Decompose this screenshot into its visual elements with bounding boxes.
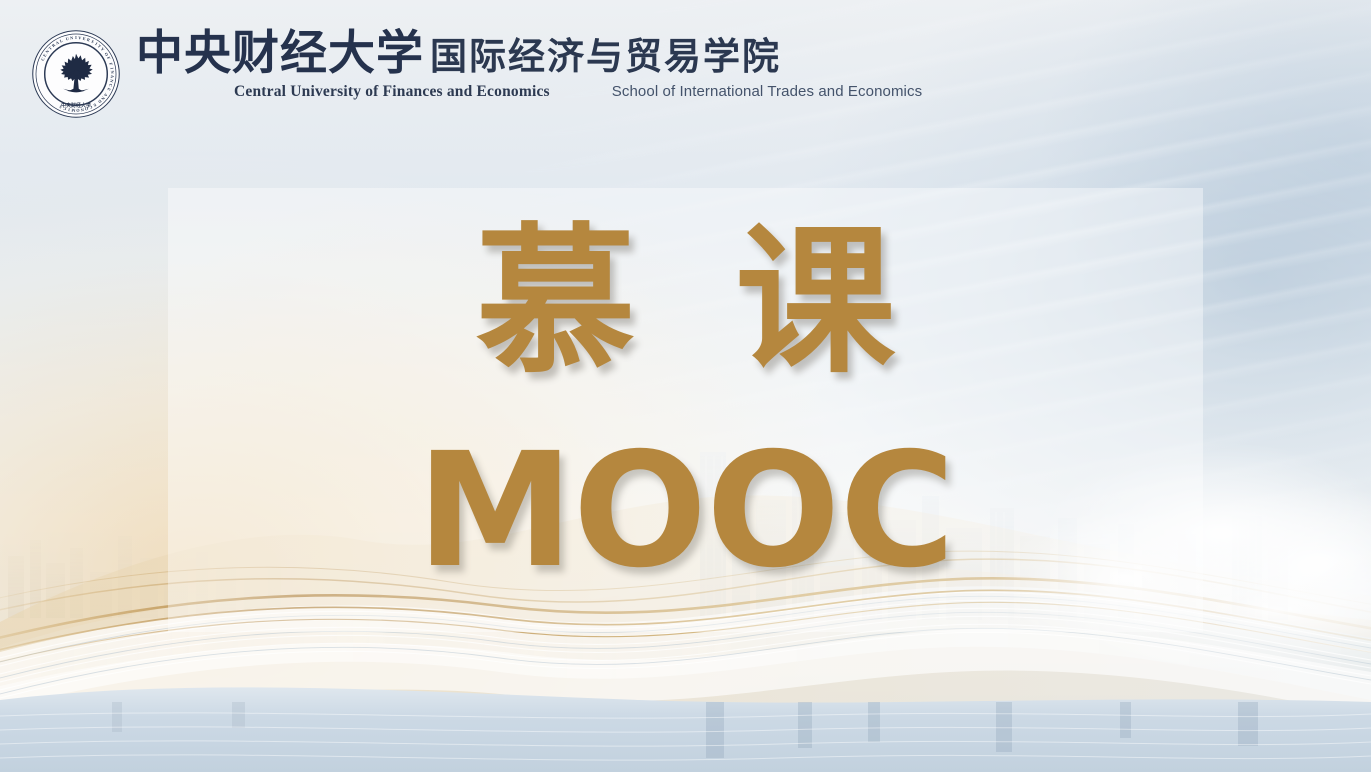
university-name-cn: 中央财经大学 [136, 30, 424, 77]
svg-text:V: V [78, 35, 82, 40]
institution-logo-bar: C E N T R A L U N I V E R S I T Y [30, 28, 922, 120]
school-name-cn: 国际经济与贸易学院 [430, 38, 781, 75]
svg-text:N: N [70, 35, 74, 40]
institution-chinese-names: 中央财经大学 国际经济与贸易学院 [136, 30, 922, 77]
svg-text:中央财经大学: 中央财经大学 [61, 102, 91, 109]
institution-english-names: Central University of Finances and Econo… [136, 83, 922, 101]
slide-title-english: MOOC [0, 432, 1371, 590]
presentation-slide: C E N T R A L U N I V E R S I T Y [0, 0, 1371, 772]
school-name-en: School of International Trades and Econo… [612, 83, 922, 100]
svg-text:N: N [110, 70, 115, 73]
university-name-en: Central University of Finances and Econo… [136, 83, 550, 101]
institution-wordmark: 中央财经大学 国际经济与贸易学院 Central University of F… [136, 28, 922, 101]
university-seal-icon: C E N T R A L U N I V E R S I T Y [30, 28, 122, 120]
slide-title-chinese: 慕 课 [0, 222, 1371, 382]
